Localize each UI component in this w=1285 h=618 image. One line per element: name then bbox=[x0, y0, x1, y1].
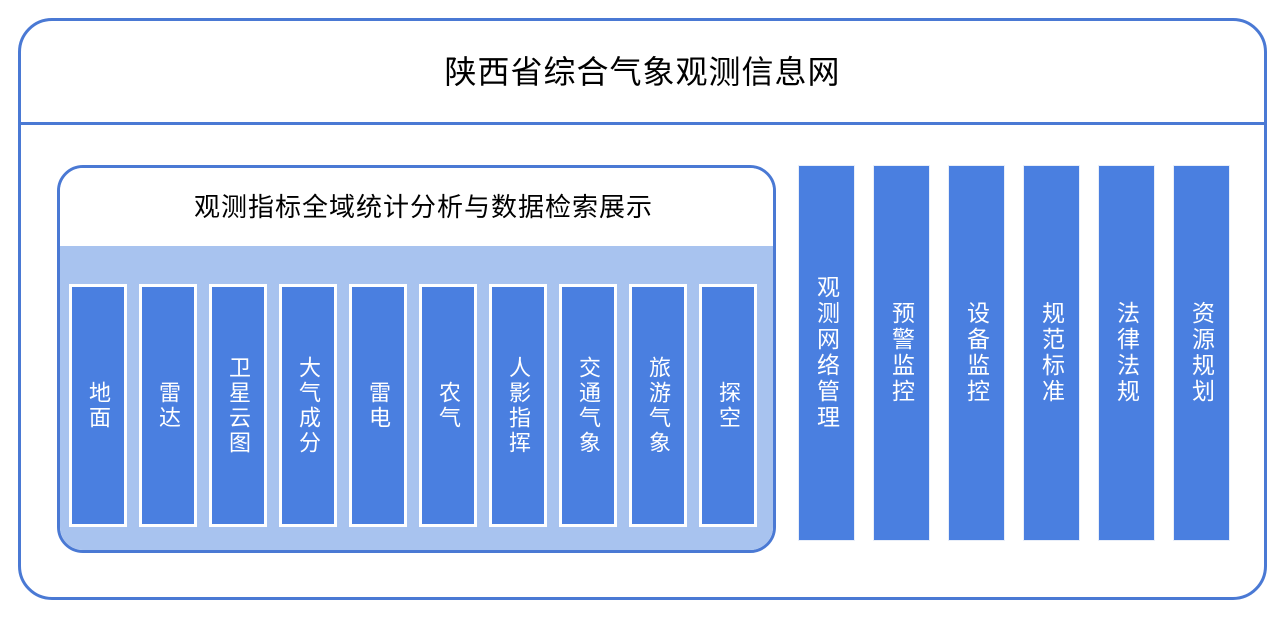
observation-category-box[interactable]: 交通气象 bbox=[559, 284, 617, 527]
management-module-bar[interactable]: 法律法规 bbox=[1098, 165, 1155, 541]
observation-category-label: 卫星云图 bbox=[223, 356, 253, 456]
observation-category-box[interactable]: 旅游气象 bbox=[629, 284, 687, 527]
observation-category-label: 雷达 bbox=[153, 381, 183, 431]
observation-category-label: 农气 bbox=[433, 381, 463, 431]
observation-category-box[interactable]: 探空 bbox=[699, 284, 757, 527]
page-title: 陕西省综合气象观测信息网 bbox=[18, 50, 1267, 94]
management-module-label: 预警监控 bbox=[886, 301, 918, 405]
title-divider bbox=[18, 122, 1267, 125]
management-module-label: 设备监控 bbox=[961, 301, 993, 405]
observation-category-box[interactable]: 大气成分 bbox=[279, 284, 337, 527]
observation-index-panel-title: 观测指标全域统计分析与数据检索展示 bbox=[180, 189, 653, 225]
observation-index-panel: 观测指标全域统计分析与数据检索展示 地面 雷达 卫星云图 大气成分 雷电 农气 … bbox=[57, 165, 776, 553]
observation-category-box[interactable]: 地面 bbox=[69, 284, 127, 527]
management-module-label: 资源规划 bbox=[1186, 301, 1218, 405]
observation-category-box[interactable]: 雷电 bbox=[349, 284, 407, 527]
observation-category-label: 探空 bbox=[713, 381, 743, 431]
management-module-bar[interactable]: 观测网络管理 bbox=[798, 165, 855, 541]
observation-category-label: 地面 bbox=[83, 381, 113, 431]
management-module-bar[interactable]: 设备监控 bbox=[948, 165, 1005, 541]
observation-category-box[interactable]: 卫星云图 bbox=[209, 284, 267, 527]
observation-category-label: 交通气象 bbox=[573, 356, 603, 456]
observation-index-panel-body: 地面 雷达 卫星云图 大气成分 雷电 农气 人影指挥 交通气象 bbox=[60, 246, 773, 550]
observation-category-label: 人影指挥 bbox=[503, 356, 533, 456]
management-module-label: 法律法规 bbox=[1111, 301, 1143, 405]
management-module-bar[interactable]: 资源规划 bbox=[1173, 165, 1230, 541]
management-module-label: 规范标准 bbox=[1036, 301, 1068, 405]
observation-category-label: 雷电 bbox=[363, 381, 393, 431]
observation-category-box[interactable]: 雷达 bbox=[139, 284, 197, 527]
management-module-bar[interactable]: 规范标准 bbox=[1023, 165, 1080, 541]
observation-category-box[interactable]: 农气 bbox=[419, 284, 477, 527]
diagram-canvas: 陕西省综合气象观测信息网 观测指标全域统计分析与数据检索展示 地面 雷达 卫星云… bbox=[0, 0, 1285, 618]
observation-index-panel-header: 观测指标全域统计分析与数据检索展示 bbox=[60, 168, 773, 246]
management-module-label: 观测网络管理 bbox=[811, 275, 843, 431]
management-module-bar[interactable]: 预警监控 bbox=[873, 165, 930, 541]
observation-category-label: 大气成分 bbox=[293, 356, 323, 456]
observation-category-box[interactable]: 人影指挥 bbox=[489, 284, 547, 527]
observation-category-label: 旅游气象 bbox=[643, 356, 673, 456]
management-modules-group: 观测网络管理 预警监控 设备监控 规范标准 法律法规 资源规划 bbox=[798, 165, 1230, 541]
